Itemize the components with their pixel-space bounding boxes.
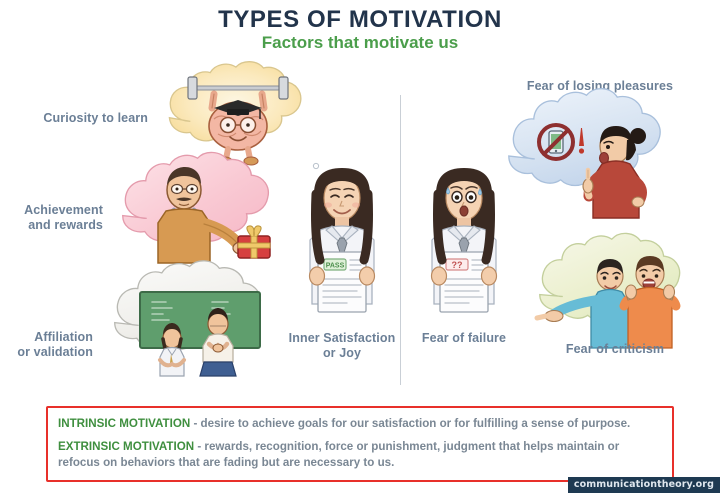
illustration-fear-of-criticism — [528, 238, 702, 348]
definition-intrinsic-term: INTRINSIC MOTIVATION — [58, 417, 190, 430]
certificate-mark-pass: PASS — [326, 263, 345, 270]
label-affiliation-or-validation: Affiliation or validation — [0, 330, 93, 360]
label-inner-satisfaction-line2: or Joy — [288, 346, 396, 361]
page-subtitle: Factors that motivate us — [0, 33, 720, 53]
illustration-affiliation-or-validation — [100, 268, 302, 376]
label-inner-satisfaction-line1: Inner Satisfaction — [288, 331, 396, 346]
label-achievement-line2: and rewards — [0, 218, 103, 233]
label-fear-of-failure: Fear of failure — [410, 331, 518, 346]
center-divider — [400, 95, 401, 385]
label-affiliation-line2: or validation — [0, 345, 93, 360]
label-curiosity-to-learn: Curiosity to learn — [8, 111, 148, 126]
definition-intrinsic: INTRINSIC MOTIVATION - desire to achieve… — [58, 416, 662, 432]
illustration-achievement-and-rewards — [108, 158, 308, 270]
label-affiliation-line1: Affiliation — [0, 330, 93, 345]
definitions-box: INTRINSIC MOTIVATION - desire to achieve… — [46, 406, 674, 482]
certificate-mark-unknown: ?? — [452, 260, 463, 270]
illustration-fear-of-losing-pleasures — [498, 98, 688, 218]
infographic-canvas: TYPES OF MOTIVATION Factors that motivat… — [0, 0, 720, 495]
label-fear-of-criticism: Fear of criticism — [540, 342, 690, 357]
label-achievement-line1: Achievement — [0, 203, 103, 218]
definition-extrinsic-term: EXTRINSIC MOTIVATION — [58, 440, 194, 453]
label-inner-satisfaction: Inner Satisfaction or Joy — [288, 331, 396, 361]
figure-inner-satisfaction: PASS — [290, 160, 394, 325]
page-title: TYPES OF MOTIVATION — [0, 6, 720, 34]
definition-intrinsic-body: - desire to achieve goals for our satisf… — [190, 417, 630, 430]
label-achievement-and-rewards: Achievement and rewards — [0, 203, 103, 233]
definition-extrinsic: EXTRINSIC MOTIVATION - rewards, recognit… — [58, 439, 662, 471]
watermark: communicationtheory.org — [568, 477, 720, 493]
